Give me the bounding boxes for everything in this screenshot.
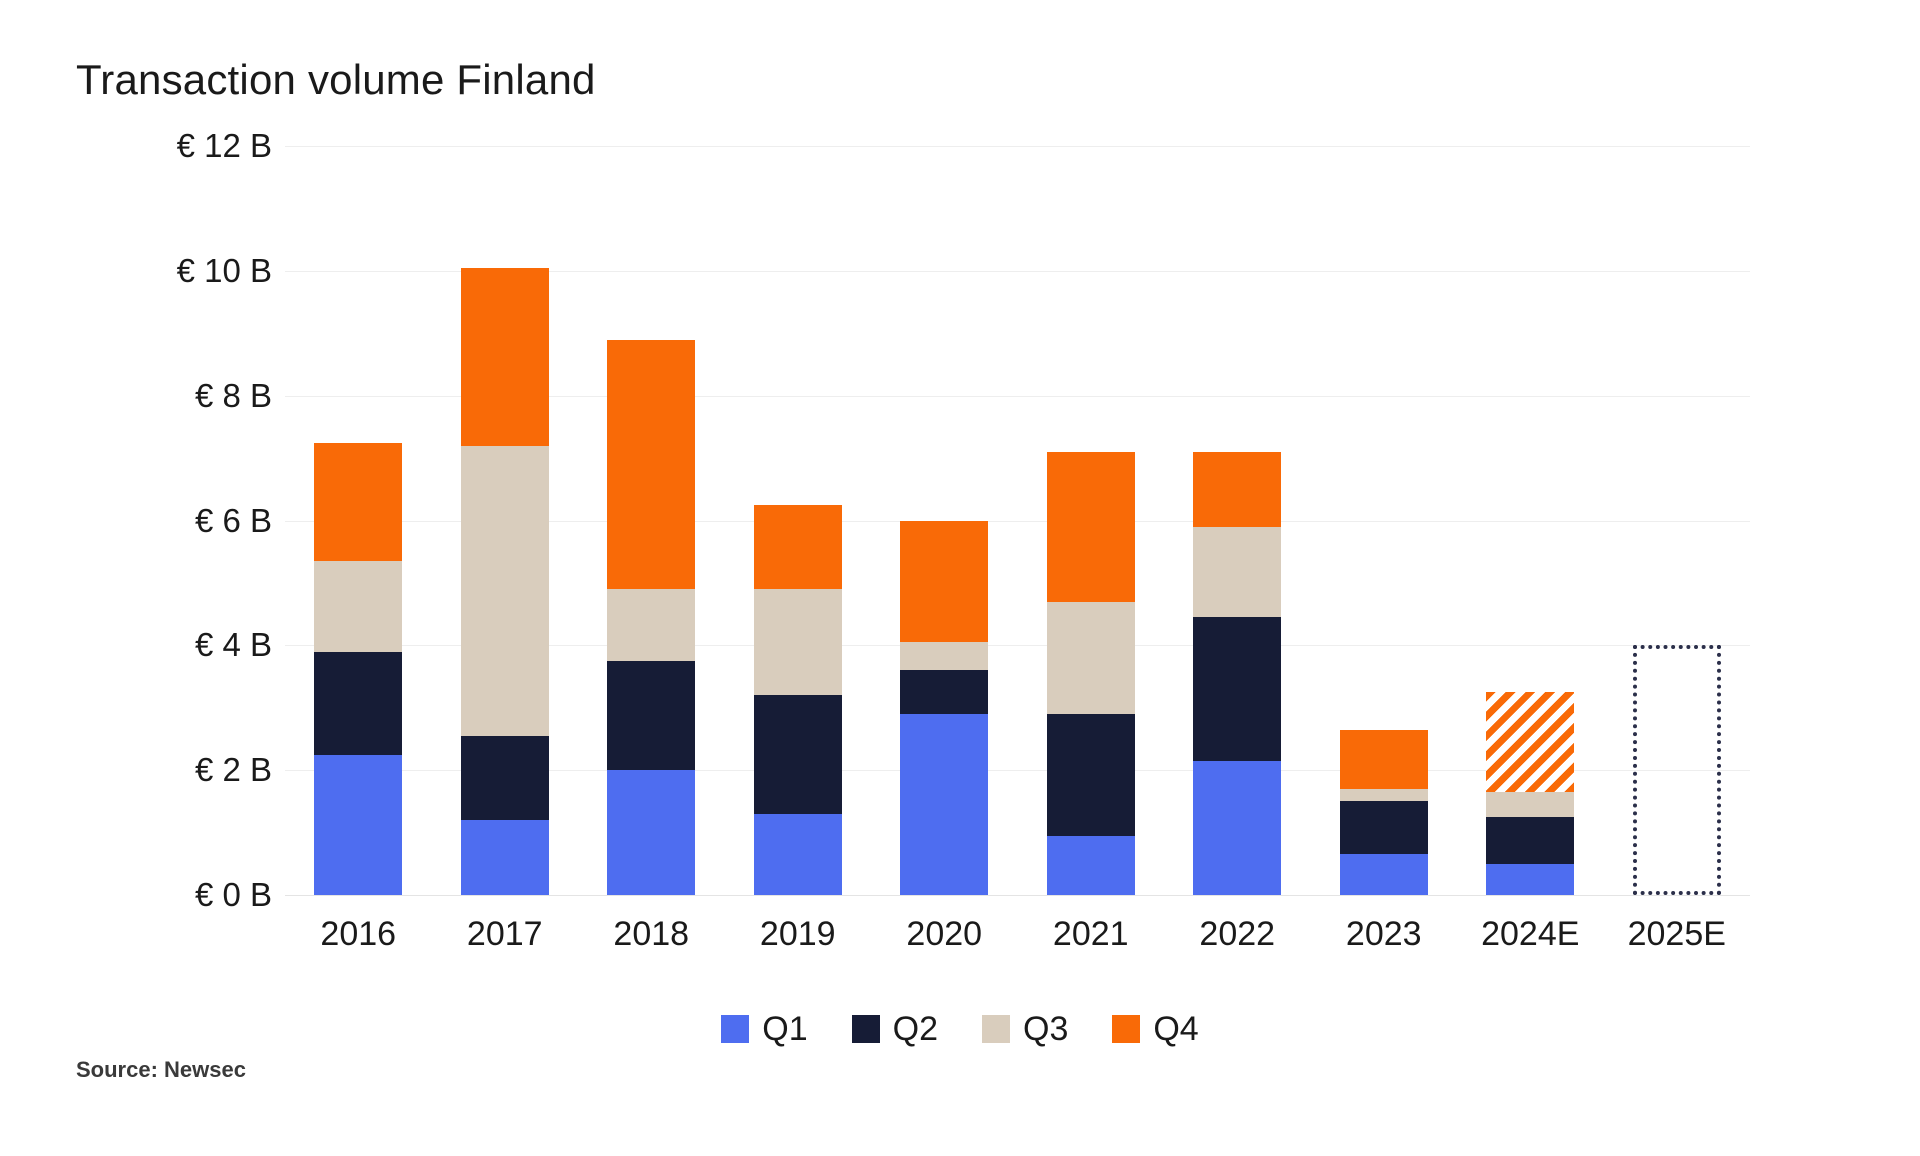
- legend-label: Q2: [893, 1012, 938, 1046]
- legend-swatch-icon: [982, 1015, 1010, 1043]
- bar-segment-q2[interactable]: [607, 661, 695, 770]
- stacked-bar[interactable]: [754, 505, 842, 895]
- x-axis-tick-label: 2017: [467, 915, 543, 954]
- y-axis-tick-label: € 12 B: [177, 127, 272, 165]
- bar-segment-q2[interactable]: [1486, 817, 1574, 864]
- bar-segment-q2[interactable]: [314, 652, 402, 755]
- legend-swatch-icon: [1112, 1015, 1140, 1043]
- bar-group[interactable]: [1047, 146, 1135, 895]
- bar-segment-q3[interactable]: [461, 446, 549, 736]
- legend-swatch-icon: [721, 1015, 749, 1043]
- gridline: [285, 895, 1750, 896]
- x-axis-tick-label: 2018: [613, 915, 689, 954]
- bar-segment-q1[interactable]: [1047, 836, 1135, 895]
- stacked-bar[interactable]: [1486, 692, 1574, 895]
- page-title: Transaction volume Finland: [76, 56, 596, 104]
- bar-segment-q3[interactable]: [314, 561, 402, 652]
- x-axis-tick-label: 2020: [906, 915, 982, 954]
- bar-group[interactable]: [754, 146, 842, 895]
- bar-segment-q1[interactable]: [607, 770, 695, 895]
- bar-segment-q1[interactable]: [461, 820, 549, 895]
- bar-segment-q4[interactable]: [754, 505, 842, 589]
- legend-label: Q3: [1023, 1012, 1068, 1046]
- x-axis-tick-label: 2022: [1199, 915, 1275, 954]
- legend-item-q1[interactable]: Q1: [721, 1012, 807, 1046]
- y-axis-tick-label: € 8 B: [195, 377, 272, 415]
- bar-segment-q3[interactable]: [1340, 789, 1428, 801]
- bar-segment-q4[interactable]: [1193, 452, 1281, 527]
- bar-segment-q4[interactable]: [1486, 692, 1574, 792]
- bar-segment-q4[interactable]: [461, 268, 549, 446]
- legend-label: Q1: [762, 1012, 807, 1046]
- chart-legend: Q1Q2Q3Q4: [0, 1012, 1920, 1046]
- legend-label: Q4: [1153, 1012, 1198, 1046]
- bar-segment-q4[interactable]: [1047, 452, 1135, 602]
- bar-segment-q3[interactable]: [754, 589, 842, 695]
- bar-segment-q1[interactable]: [314, 755, 402, 895]
- bar-segment-q1[interactable]: [1340, 854, 1428, 895]
- legend-swatch-icon: [852, 1015, 880, 1043]
- x-axis-tick-label: 2021: [1053, 915, 1129, 954]
- stacked-bar[interactable]: [1047, 452, 1135, 895]
- bar-group[interactable]: [1486, 146, 1574, 895]
- bar-segment-q3[interactable]: [1047, 602, 1135, 714]
- bar-segment-q2[interactable]: [461, 736, 549, 820]
- bar-segment-q4[interactable]: [1340, 730, 1428, 789]
- bar-segment-q1[interactable]: [1193, 761, 1281, 895]
- x-axis-tick-label: 2016: [320, 915, 396, 954]
- bar-group[interactable]: [461, 146, 549, 895]
- bar-group[interactable]: [1340, 146, 1428, 895]
- legend-item-q4[interactable]: Q4: [1112, 1012, 1198, 1046]
- y-axis-tick-label: € 10 B: [177, 252, 272, 290]
- y-axis-tick-label: € 4 B: [195, 626, 272, 664]
- stacked-bar[interactable]: [461, 268, 549, 895]
- bar-segment-q4[interactable]: [607, 340, 695, 590]
- x-axis: 201620172018201920202021202220232024E202…: [285, 915, 1750, 975]
- bar-segment-q4[interactable]: [314, 443, 402, 562]
- y-axis-tick-label: € 2 B: [195, 751, 272, 789]
- forecast-placeholder-bar[interactable]: [1633, 645, 1721, 895]
- bars-layer: [285, 146, 1750, 895]
- source-note: Source: Newsec: [76, 1057, 246, 1083]
- bar-group[interactable]: [900, 146, 988, 895]
- bar-segment-q2[interactable]: [1193, 617, 1281, 761]
- legend-item-q3[interactable]: Q3: [982, 1012, 1068, 1046]
- stacked-bar[interactable]: [607, 340, 695, 895]
- stacked-bar[interactable]: [1340, 730, 1428, 895]
- bar-segment-q2[interactable]: [900, 670, 988, 714]
- bar-group[interactable]: [607, 146, 695, 895]
- x-axis-tick-label: 2019: [760, 915, 836, 954]
- y-axis-tick-label: € 0 B: [195, 876, 272, 914]
- bar-segment-q1[interactable]: [754, 814, 842, 895]
- bar-segment-q3[interactable]: [1486, 792, 1574, 817]
- legend-item-q2[interactable]: Q2: [852, 1012, 938, 1046]
- x-axis-tick-label: 2024E: [1481, 915, 1579, 954]
- bar-group[interactable]: [1633, 146, 1721, 895]
- bar-segment-q2[interactable]: [1340, 801, 1428, 854]
- bar-segment-q1[interactable]: [1486, 864, 1574, 895]
- bar-segment-q3[interactable]: [1193, 527, 1281, 618]
- bar-group[interactable]: [314, 146, 402, 895]
- stacked-bar[interactable]: [314, 443, 402, 896]
- x-axis-tick-label: 2025E: [1628, 915, 1726, 954]
- bar-segment-q1[interactable]: [900, 714, 988, 895]
- bar-segment-q2[interactable]: [1047, 714, 1135, 836]
- stacked-bar[interactable]: [1193, 452, 1281, 895]
- bar-segment-q3[interactable]: [607, 589, 695, 661]
- bar-segment-q4[interactable]: [900, 521, 988, 643]
- x-axis-tick-label: 2023: [1346, 915, 1422, 954]
- bar-group[interactable]: [1193, 146, 1281, 895]
- bar-segment-q3[interactable]: [900, 642, 988, 670]
- stacked-bar[interactable]: [900, 521, 988, 895]
- bar-segment-q2[interactable]: [754, 695, 842, 814]
- y-axis-tick-label: € 6 B: [195, 502, 272, 540]
- y-axis: € 0 B€ 2 B€ 4 B€ 6 B€ 8 B€ 10 B€ 12 B: [0, 146, 272, 895]
